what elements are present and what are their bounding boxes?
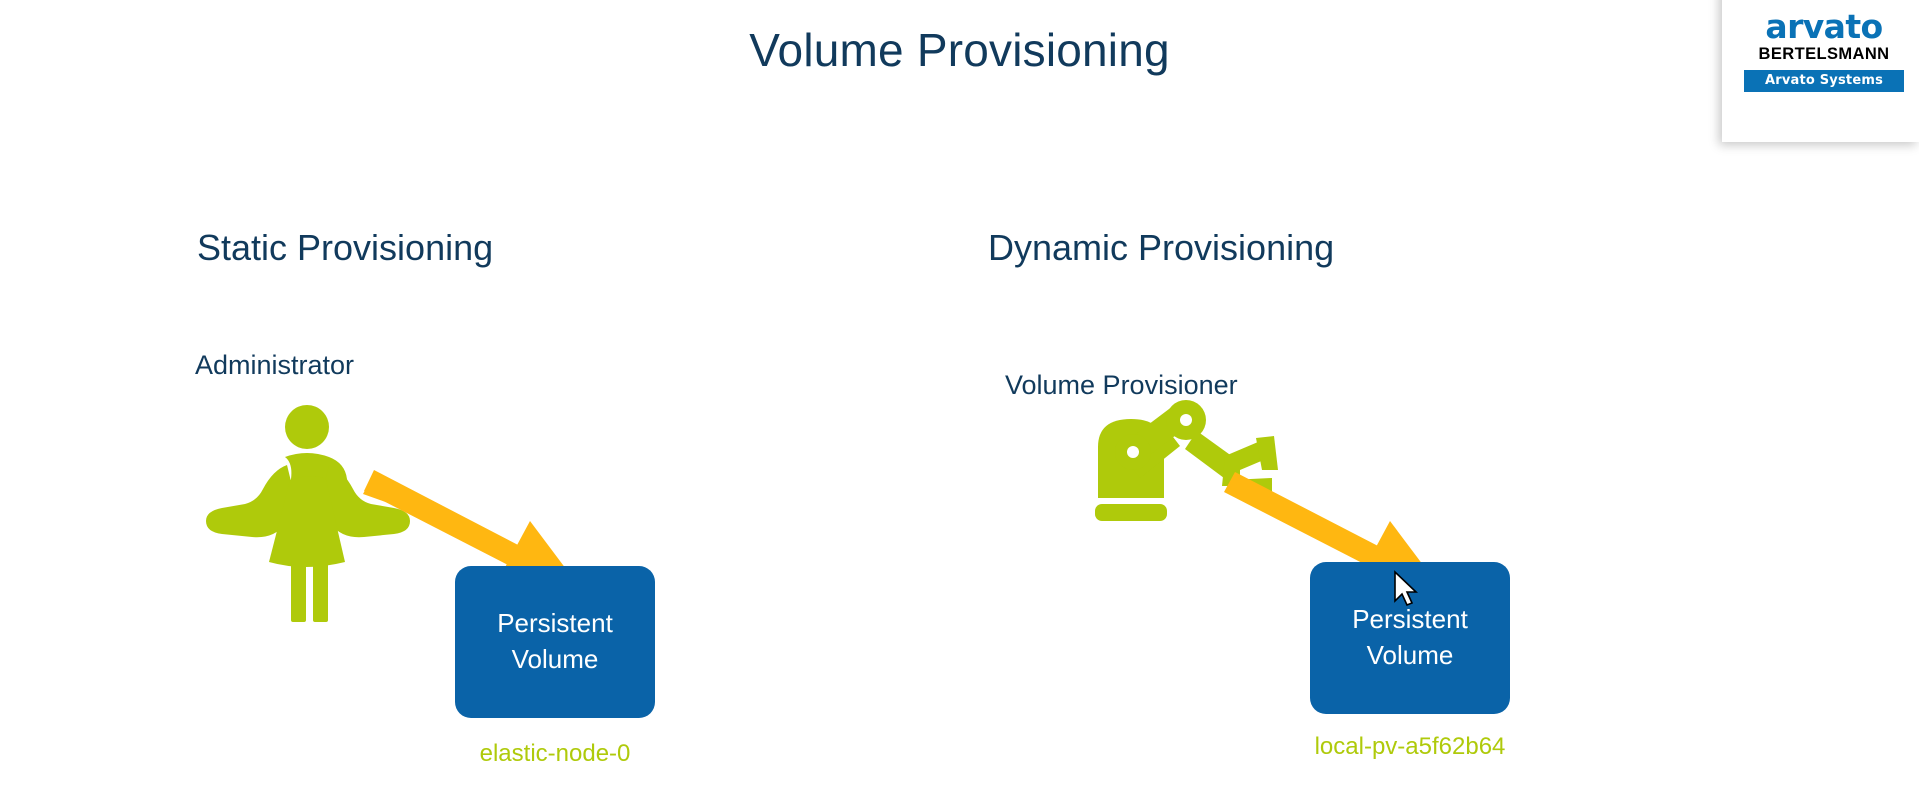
pv-caption-dynamic: local-pv-a5f62b64 [1280,733,1540,761]
actor-label-administrator: Administrator [195,350,354,381]
arvato-logo: arvato BERTELSMANN Arvato Systems [1722,0,1919,142]
person-icon [0,0,1919,812]
slide-canvas: Volume Provisioning arvato BERTELSMANN A… [0,0,1919,812]
pv-box-line1: Persistent [1352,602,1468,638]
logo-unit-badge: Arvato Systems [1744,70,1904,92]
arrow-down-right-icon-static [0,0,1919,812]
pv-box-line2: Volume [512,642,599,678]
persistent-volume-box-static[interactable]: Persistent Volume [455,566,655,718]
column-heading-dynamic: Dynamic Provisioning [988,227,1334,269]
column-heading-static: Static Provisioning [197,227,493,269]
logo-parent-text: BERTELSMANN [1744,43,1904,65]
logo-brand-text: arvato [1744,10,1904,43]
persistent-volume-box-dynamic[interactable]: Persistent Volume [1310,562,1510,714]
pv-box-line1: Persistent [497,606,613,642]
actor-label-volume-provisioner: Volume Provisioner [1005,370,1238,401]
pv-caption-static: elastic-node-0 [455,740,655,768]
page-title: Volume Provisioning [0,24,1919,77]
mouse-pointer-icon [0,0,1919,812]
robot-arm-icon [0,0,1919,812]
pv-box-line2: Volume [1367,638,1454,674]
arrow-down-right-icon-dynamic [0,0,1919,812]
